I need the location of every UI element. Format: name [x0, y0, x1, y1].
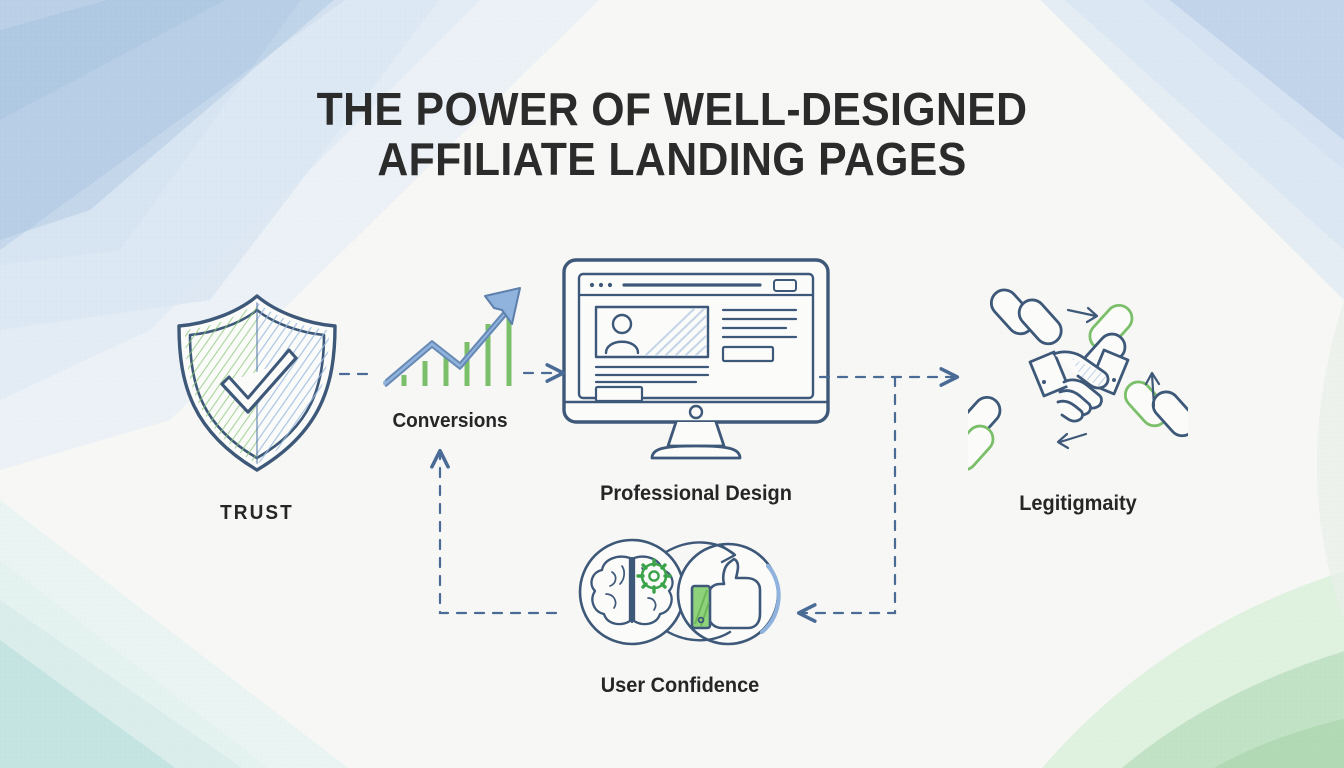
node-user-confidence[interactable]: User Confidence	[544, 532, 816, 698]
cta-button-mock	[596, 387, 642, 401]
gear-icon	[638, 560, 670, 592]
cuff-dot-left	[1042, 380, 1046, 384]
node-conversions[interactable]: Conversions	[352, 274, 548, 433]
node-legitimacy-label: Legitigmaity	[974, 492, 1183, 516]
brain-gear-thumbs-up-icon	[544, 532, 816, 658]
node-trust-label: TRUST	[155, 502, 358, 525]
node-professional-design[interactable]: Professional Design	[548, 250, 844, 506]
growth-chart-arrow-icon	[352, 274, 548, 404]
node-user-confidence-label: User Confidence	[551, 674, 809, 698]
node-professional-design-label: Professional Design	[555, 482, 836, 506]
node-conversions-label: Conversions	[357, 410, 543, 433]
shield-check-icon	[150, 288, 364, 478]
desktop-monitor-landing-page-icon	[548, 250, 844, 468]
connector-user-confidence-to-conversions	[440, 452, 556, 613]
page-title: THE POWER OF WELL-DESIGNED AFFILIATE LAN…	[47, 84, 1297, 184]
node-legitimacy[interactable]: Legitigmaity	[968, 288, 1188, 516]
cuff-dot-right	[1112, 378, 1116, 382]
bar-series	[404, 300, 509, 386]
handshake-chain-links-icon	[968, 288, 1188, 474]
node-trust[interactable]: TRUST	[150, 288, 364, 525]
